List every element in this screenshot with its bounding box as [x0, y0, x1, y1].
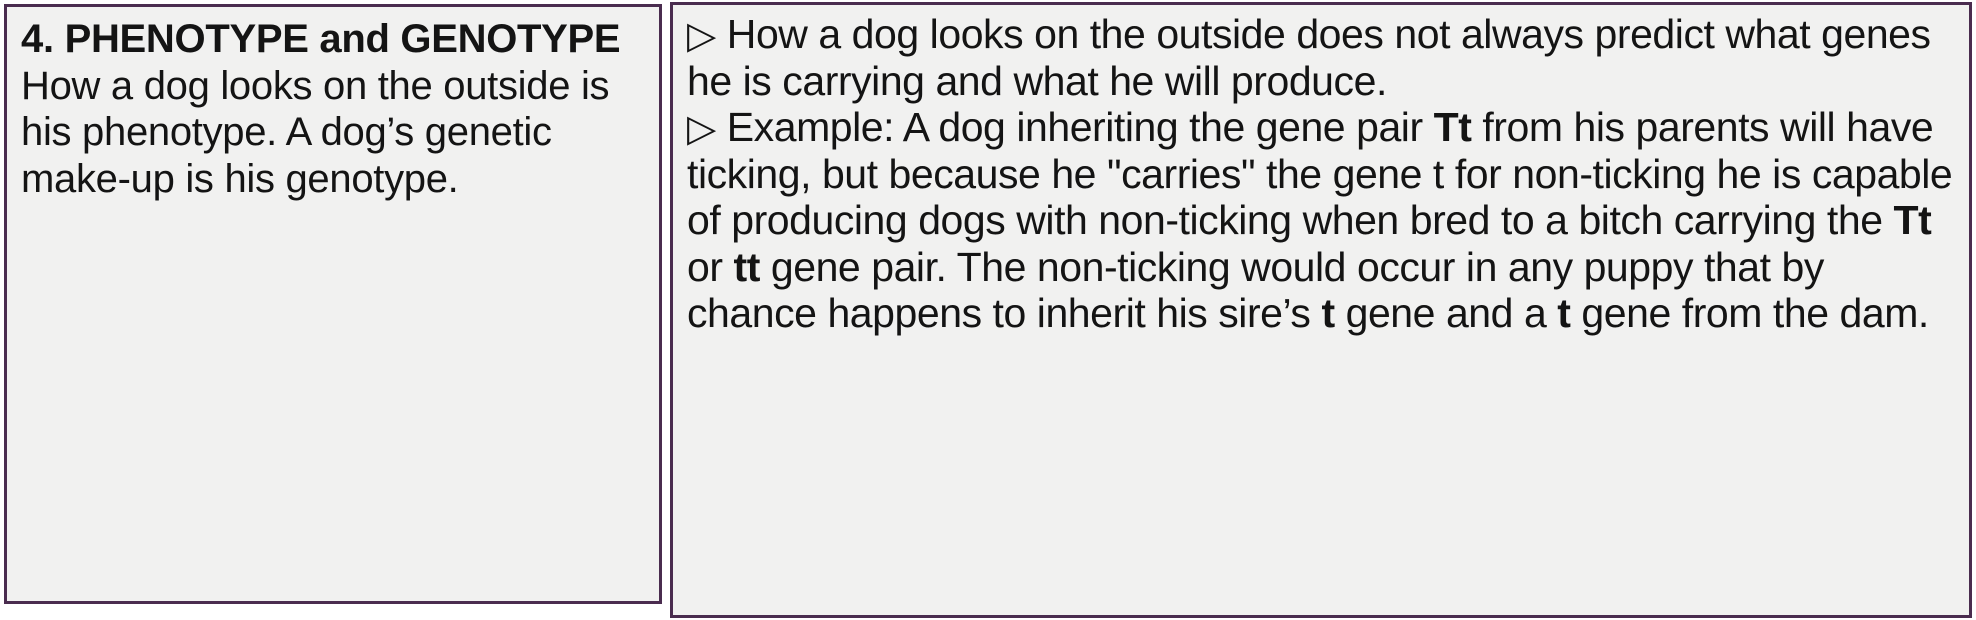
triangle-right-outline-icon: ▷ — [687, 17, 716, 55]
table-cell-definition: 4. PHENOTYPE and GENOTYPE How a dog look… — [4, 4, 662, 604]
gene-pair-label: Tt — [1434, 104, 1472, 150]
page-title: 4. PHENOTYPE and GENOTYPE — [21, 17, 645, 62]
table-cell-explanation: ▷How a dog looks on the outside does not… — [670, 2, 1972, 618]
bullet-text: gene from the dam. — [1570, 290, 1928, 336]
gene-pair-label: Tt — [1894, 197, 1932, 243]
bullet-item: ▷How a dog looks on the outside does not… — [687, 11, 1957, 104]
definition-body-text: How a dog looks on the outside is his ph… — [21, 63, 645, 202]
bullet-text: Example: A dog inheriting the gene pair — [727, 104, 1434, 150]
gene-pair-label: tt — [734, 244, 760, 290]
triangle-right-outline-icon: ▷ — [687, 110, 716, 148]
bullet-item: ▷Example: A dog inheriting the gene pair… — [687, 104, 1957, 337]
bullet-text: How a dog looks on the outside does not … — [687, 11, 1931, 104]
gene-pair-label: t — [1557, 290, 1570, 336]
bullet-text: or — [687, 244, 734, 290]
bullet-text: gene and a — [1335, 290, 1558, 336]
gene-pair-label: t — [1321, 290, 1334, 336]
bullet-list: ▷How a dog looks on the outside does not… — [687, 11, 1957, 337]
two-column-table: 4. PHENOTYPE and GENOTYPE How a dog look… — [0, 0, 1976, 620]
